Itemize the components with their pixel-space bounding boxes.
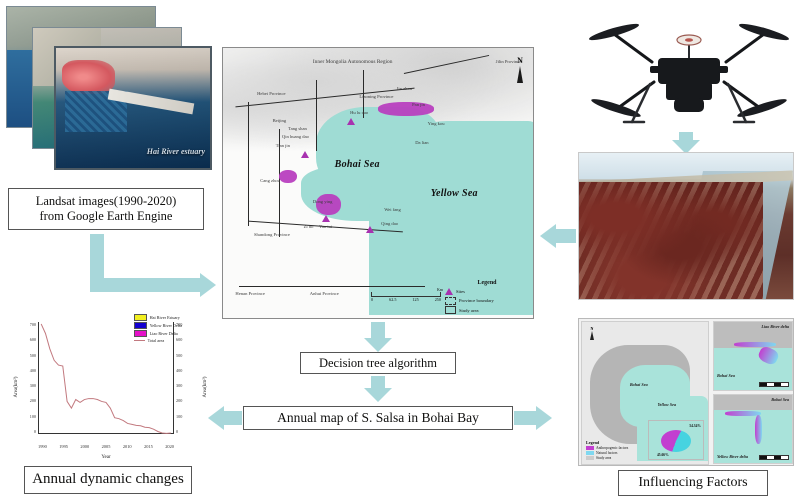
chart-x-tick: 2010 — [123, 444, 132, 449]
submap-liao-change-band — [734, 342, 776, 347]
submap-yellow-sea-label: Bohai Sea — [771, 397, 789, 402]
map-boundary-5 — [316, 80, 317, 150]
chart-y-axis-label-left: Area(km²) — [14, 377, 19, 398]
decision-tree-box: Decision tree algorithm — [300, 352, 456, 374]
north-label: N — [517, 56, 523, 65]
arrow-dtree-to-amap-head-icon — [364, 388, 392, 402]
map-city-label: Dong ying — [313, 199, 333, 204]
factors-legend-row-natural: Natural factors — [586, 451, 628, 455]
map-site-patch — [378, 102, 434, 116]
factors-submap-liao: Liao River delta Bohai Sea — [713, 321, 793, 391]
chart-legend-label: Liao River Delta — [150, 331, 178, 336]
arrow-amap-to-chart-shaft — [224, 411, 242, 425]
map-region-label: Shandong Province — [254, 232, 290, 237]
factors-label-bohai: Bohai Sea — [630, 382, 648, 387]
map-boundary-2 — [248, 102, 249, 226]
chart-y-tick: 300 — [176, 383, 182, 388]
factors-pie-chart: 54.34% 45.66% — [648, 420, 704, 460]
map-legend-row-boundary: Province boundary — [445, 297, 529, 305]
chart-y-tick: 0 — [176, 429, 178, 434]
factors-north-label: N — [590, 326, 594, 331]
landsat-image-label: Hai River estuary — [147, 147, 205, 156]
annual-changes-caption: Annual dynamic changes — [24, 466, 192, 494]
map-city-label: Tian jin — [276, 143, 290, 148]
map-region-label: Henan Province — [235, 291, 264, 296]
landsat-caption-line1: Landsat images(1990-2020) — [36, 194, 177, 209]
scale-tick: 0 — [371, 297, 373, 302]
chart-x-tick: 2000 — [80, 444, 89, 449]
map-city-label: Yan tai — [319, 224, 332, 229]
chart-y-tick: 400 — [30, 368, 36, 373]
pie-label-anthropogenic: 54.34% — [689, 424, 701, 428]
chart-legend-label: Total area — [148, 338, 165, 343]
chart-y-tick: 300 — [30, 383, 36, 388]
map-scale-ticks: 0 62.5 125 250 — [371, 297, 441, 302]
chart-x-tick: 2015 — [144, 444, 153, 449]
factors-north-arrow-icon: N — [590, 326, 594, 340]
chart-y-tick: 0 — [34, 429, 36, 434]
factors-legend-label: Natural factors — [596, 451, 617, 455]
map-region-label: Inner Mongolia Autonomous Region — [313, 59, 393, 65]
factors-main-map: N Bohai Sea Yellow Sea Legend Anthropoge… — [581, 321, 709, 465]
map-site-marker — [301, 151, 309, 158]
map-label-bohai-sea: Bohai Sea — [335, 159, 380, 170]
map-city-label: Beijing — [273, 118, 287, 123]
legend-swatch-liao-river — [134, 330, 147, 337]
arrow-landsat-right-shaft — [90, 278, 200, 292]
submap-yellow-change-band — [725, 411, 761, 416]
pie-label-natural: 45.66% — [657, 453, 669, 457]
factors-legend: Legend Anthropogenic factors Natural fac… — [586, 440, 628, 460]
chart-y-tick: 500 — [176, 353, 182, 358]
uav-drone-image — [584, 4, 794, 132]
map-legend-label: Study area — [459, 308, 479, 313]
annual-dynamic-chart: 7006005004003002001000 70060050040030020… — [8, 312, 204, 462]
landsat-image-stack: Hai River estuary — [6, 6, 206, 166]
photo-suaeda-salsa-vegetation — [579, 182, 763, 299]
map-legend: Legend Sites Province boundary Study are… — [445, 280, 529, 314]
chart-y-tick: 100 — [30, 414, 36, 419]
map-site-marker — [347, 118, 355, 125]
arrow-amap-to-factors-head-icon — [536, 406, 552, 430]
map-legend-row-study-area: Study area — [445, 306, 529, 314]
map-site-patch — [279, 170, 298, 184]
workflow-diagram: Hai River estuary Landsat images(1990-20… — [0, 0, 800, 502]
chart-y-tick: 700 — [30, 322, 36, 327]
chart-legend-label: Hai River Estuary — [150, 315, 180, 320]
chart-x-tick: 2005 — [102, 444, 111, 449]
factors-legend-label: Study area — [596, 456, 611, 460]
chart-y-tick: 500 — [30, 353, 36, 358]
landsat-caption-line2: from Google Earth Engine — [36, 209, 177, 224]
factors-legend-label: Anthropogenic factors — [596, 446, 628, 450]
scale-unit: Km — [437, 287, 443, 292]
chart-y-tick: 400 — [176, 368, 182, 373]
arrow-drone-to-field-shaft — [679, 132, 693, 140]
chart-x-tick: 1990 — [38, 444, 47, 449]
chart-y-tick: 100 — [176, 414, 182, 419]
factors-label-yellow: Yellow Sea — [658, 402, 677, 407]
landsat-layer-front: Hai River estuary — [54, 46, 212, 170]
map-scale-line — [371, 292, 441, 297]
map-label-yellow-sea: Yellow Sea — [431, 188, 478, 199]
map-site-marker — [366, 226, 374, 233]
study-area-map: Bohai Sea Yellow Sea Inner Mongolia Auto… — [222, 47, 534, 319]
chart-y-tick: 200 — [30, 398, 36, 403]
arrow-field-to-map-head-icon — [540, 224, 556, 248]
field-aerial-photo — [578, 152, 794, 300]
map-city-label: Tang shan — [288, 126, 307, 131]
map-city-label: Jin zhou — [397, 86, 412, 91]
chart-x-tick: 1995 — [59, 444, 68, 449]
annual-map-box: Annual map of S. Salsa in Bohai Bay — [243, 406, 513, 430]
scale-tick: 250 — [435, 297, 441, 302]
drone-icon — [584, 4, 794, 132]
north-arrow-icon: N — [517, 56, 523, 83]
landsat-caption-box: Landsat images(1990-2020) from Google Ea… — [8, 188, 204, 230]
pie-disc — [661, 430, 691, 452]
swatch-anthropogenic — [586, 446, 594, 450]
submap-yellow-scalebar — [759, 455, 789, 460]
arrow-amap-to-factors-shaft — [514, 411, 536, 425]
chart-y-tick: 200 — [176, 398, 182, 403]
legend-swatch-yellow-river — [134, 322, 147, 329]
chart-x-tick: 2020 — [165, 444, 174, 449]
submap-yellow-change-band — [755, 415, 763, 444]
map-city-label: Hu lu dao — [350, 110, 368, 115]
legend-line-total-area — [134, 340, 145, 341]
influencing-factors-caption: Influencing Factors — [618, 470, 768, 496]
arrow-landsat-down-shaft — [90, 234, 104, 278]
site-triangle-icon — [445, 288, 453, 295]
scale-tick: 62.5 — [389, 297, 396, 302]
map-boundary-6 — [239, 286, 425, 287]
landsat-vegetation-patch — [62, 60, 114, 94]
map-city-label: Qin huang dao — [282, 134, 309, 139]
chart-x-axis-label: Year — [8, 455, 204, 460]
scale-tick: 125 — [412, 297, 418, 302]
chart-legend-row-total: Total area — [134, 338, 182, 343]
chart-legend: Hai River Estuary Yellow River Delta Lia… — [134, 314, 182, 344]
study-area-box-icon — [445, 306, 456, 314]
map-city-label: Cang zhou — [260, 178, 280, 183]
submap-liao-scalebar — [759, 382, 789, 387]
chart-legend-row-yellow: Yellow River Delta — [134, 322, 182, 329]
chart-inner: 7006005004003002001000 70060050040030020… — [8, 312, 204, 462]
map-region-label: Hebei Province — [257, 91, 285, 96]
swatch-natural — [586, 451, 594, 455]
arrow-map-to-dtree-shaft — [371, 322, 385, 338]
legend-swatch-hai-river — [134, 314, 147, 321]
arrow-field-to-map-shaft — [556, 229, 576, 243]
north-arrow-glyph — [517, 66, 523, 83]
factors-legend-row-study: Study area — [586, 456, 628, 460]
factors-legend-row-anthropogenic: Anthropogenic factors — [586, 446, 628, 450]
swatch-study-area — [586, 456, 594, 460]
map-legend-label: Sites — [456, 289, 465, 294]
chart-y-tick: 600 — [30, 337, 36, 342]
influencing-factors-panel: N Bohai Sea Yellow Sea Legend Anthropoge… — [578, 318, 794, 466]
map-legend-row-sites: Sites — [445, 288, 529, 295]
map-legend-label: Province boundary — [459, 298, 494, 303]
dashed-boundary-icon — [445, 297, 456, 305]
arrow-map-to-dtree-head-icon — [364, 338, 392, 352]
drone-antenna-icon — [677, 35, 701, 58]
factors-legend-title: Legend — [586, 440, 628, 445]
map-city-label: Zi bo — [304, 224, 314, 229]
map-region-label: Anhui Province — [310, 291, 339, 296]
map-legend-title: Legend — [445, 280, 529, 286]
factors-north-glyph — [590, 331, 594, 340]
chart-legend-row-liao: Liao River Delta — [134, 330, 182, 337]
map-city-label: Wei fang — [384, 207, 401, 212]
chart-x-axis-ticks: 1990199520002005201020152020 — [38, 444, 174, 449]
map-city-label: Pan jin — [412, 102, 425, 107]
map-region-label: Liaoning Province — [359, 94, 393, 99]
map-scale-bar: 0 62.5 125 250 Km — [371, 292, 441, 303]
arrow-dtree-to-amap-shaft — [371, 376, 385, 388]
chart-y-axis-label-right: Area(km²) — [203, 377, 208, 398]
map-city-label: Da lian — [415, 140, 428, 145]
chart-legend-row-hai: Hai River Estuary — [134, 314, 182, 321]
submap-liao-sea-label: Bohai Sea — [717, 373, 735, 378]
map-site-marker — [322, 215, 330, 222]
submap-liao-title: Liao River delta — [761, 324, 789, 329]
chart-legend-label: Yellow River Delta — [150, 323, 182, 328]
map-site-patch — [316, 194, 341, 216]
submap-yellow-title: Yellow River delta — [717, 454, 748, 459]
map-city-label: Ying kou — [428, 121, 445, 126]
arrow-landsat-head-icon — [200, 273, 216, 297]
factors-submap-yellow: Bohai Sea Yellow River delta — [713, 394, 793, 464]
map-city-label: Qing dao — [381, 221, 398, 226]
arrow-amap-to-chart-head-icon — [208, 406, 224, 430]
